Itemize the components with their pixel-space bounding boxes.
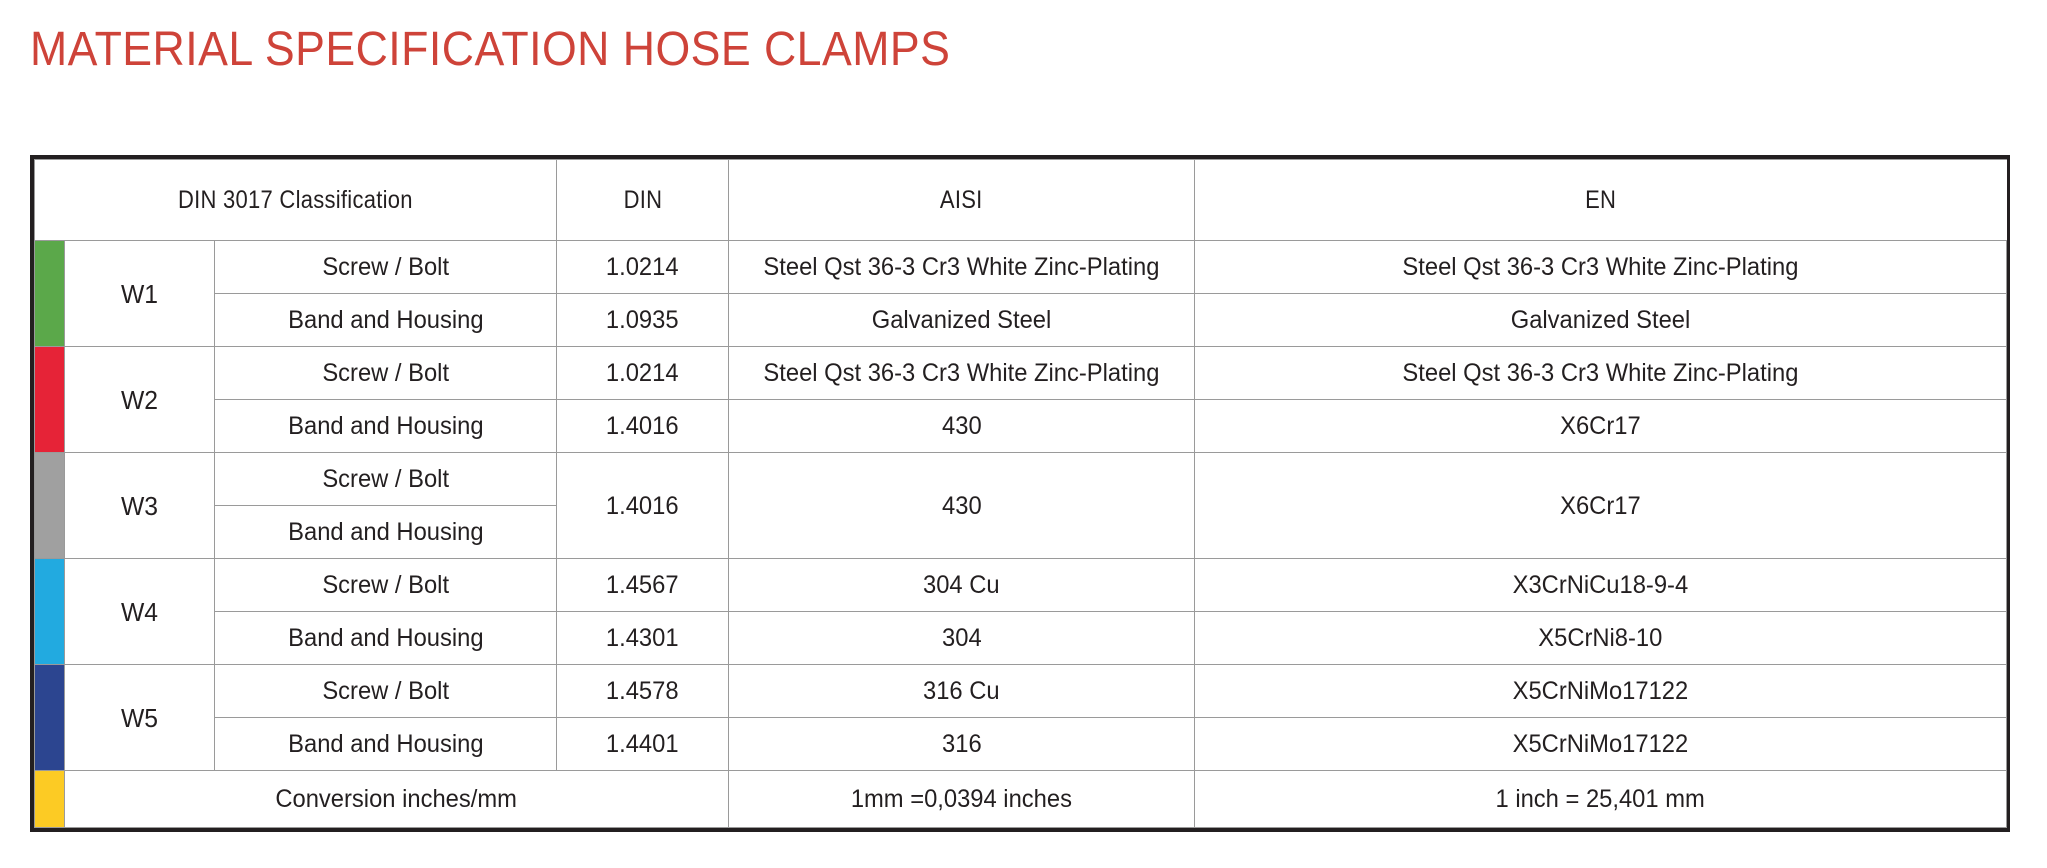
en-value: Galvanized Steel: [1195, 294, 2007, 347]
conversion-label: Conversion inches/mm: [65, 771, 729, 828]
column-header-classification-label: DIN 3017 Classification: [178, 186, 413, 215]
aisi-label: 304: [942, 623, 982, 653]
part-label: Band and Housing: [288, 517, 483, 547]
en-label: X5CrNiMo17122: [1513, 729, 1689, 759]
group-code-label: W2: [121, 385, 158, 415]
part-label: Band and Housing: [288, 305, 483, 335]
en-value: X5CrNiMo17122: [1195, 718, 2007, 771]
part-label: Band and Housing: [288, 623, 483, 653]
en-value: X5CrNiMo17122: [1195, 665, 2007, 718]
color-chip: [35, 559, 64, 664]
aisi-label: 316: [942, 729, 982, 759]
en-value: X3CrNiCu18-9-4: [1195, 559, 2007, 612]
conversion-inch-to-mm-text: 1 inch = 25,401 mm: [1496, 784, 1705, 814]
column-header-en: EN: [1195, 160, 2007, 241]
part-name: Screw / Bolt: [215, 241, 557, 294]
group-code-label: W1: [121, 279, 158, 309]
din-label: 1.4567: [606, 570, 679, 600]
color-chip: [35, 241, 64, 346]
group-code-w5: W5: [65, 665, 215, 771]
part-name: Band and Housing: [215, 612, 557, 665]
conversion-inch-to-mm: 1 inch = 25,401 mm: [1195, 771, 2007, 828]
aisi-label: Steel Qst 36-3 Cr3 White Zinc-Plating: [763, 358, 1159, 388]
en-label: X6Cr17: [1560, 411, 1641, 441]
din-value: 1.4578: [557, 665, 729, 718]
en-label: X6Cr17: [1560, 491, 1641, 521]
din-label: 1.0935: [606, 305, 679, 335]
en-label: X3CrNiCu18-9-4: [1513, 570, 1689, 600]
color-chip: [35, 771, 64, 827]
din-label: 1.4578: [606, 676, 679, 706]
aisi-value: Steel Qst 36-3 Cr3 White Zinc-Plating: [729, 241, 1195, 294]
conversion-label-text: Conversion inches/mm: [276, 784, 518, 814]
din-label: 1.0214: [606, 252, 679, 282]
part-name: Band and Housing: [215, 294, 557, 347]
group-color-swatch-w2: [35, 347, 65, 453]
part-name: Screw / Bolt: [215, 665, 557, 718]
table-row: Band and Housing 1.4301 304 X5CrNi8-10: [35, 612, 2007, 665]
part-label: Screw / Bolt: [322, 464, 449, 494]
din-value: 1.4016: [557, 453, 729, 559]
column-header-din-label: DIN: [623, 186, 662, 215]
group-color-swatch-w5: [35, 665, 65, 771]
din-value: 1.4301: [557, 612, 729, 665]
din-value: 1.0214: [557, 241, 729, 294]
aisi-label: 304 Cu: [923, 570, 1000, 600]
color-chip: [35, 665, 64, 770]
part-label: Screw / Bolt: [322, 358, 449, 388]
document-page: MATERIAL SPECIFICATION HOSE CLAMPS DIN 3…: [0, 0, 2047, 868]
aisi-value: 304 Cu: [729, 559, 1195, 612]
color-chip: [35, 453, 64, 558]
aisi-value: Steel Qst 36-3 Cr3 White Zinc-Plating: [729, 347, 1195, 400]
en-label: X5CrNiMo17122: [1513, 676, 1689, 706]
table-row: W1 Screw / Bolt 1.0214 Steel Qst 36-3 Cr…: [35, 241, 2007, 294]
din-value: 1.0935: [557, 294, 729, 347]
en-value: X6Cr17: [1195, 400, 2007, 453]
table-row: W4 Screw / Bolt 1.4567 304 Cu X3CrNiCu18…: [35, 559, 2007, 612]
part-label: Band and Housing: [288, 729, 483, 759]
color-chip: [35, 347, 64, 452]
din-label: 1.4301: [606, 623, 679, 653]
page-title: MATERIAL SPECIFICATION HOSE CLAMPS: [30, 20, 950, 80]
table-header: DIN 3017 Classification DIN AISI EN: [35, 160, 2007, 241]
table-row: Band and Housing 1.4401 316 X5CrNiMo1712…: [35, 718, 2007, 771]
group-color-swatch-w4: [35, 559, 65, 665]
table-row: Band and Housing 1.0935 Galvanized Steel…: [35, 294, 2007, 347]
part-label: Band and Housing: [288, 411, 483, 441]
aisi-value: 430: [729, 453, 1195, 559]
conversion-row: Conversion inches/mm 1mm =0,0394 inches …: [35, 771, 2007, 828]
conversion-color-swatch: [35, 771, 65, 828]
en-label: Steel Qst 36-3 Cr3 White Zinc-Plating: [1402, 252, 1798, 282]
table-row: W2 Screw / Bolt 1.0214 Steel Qst 36-3 Cr…: [35, 347, 2007, 400]
group-color-swatch-w1: [35, 241, 65, 347]
din-value: 1.4016: [557, 400, 729, 453]
material-spec-table: DIN 3017 Classification DIN AISI EN: [34, 159, 2007, 828]
en-value: X5CrNi8-10: [1195, 612, 2007, 665]
conversion-mm-to-inches: 1mm =0,0394 inches: [729, 771, 1195, 828]
material-spec-table-container: DIN 3017 Classification DIN AISI EN: [30, 155, 2010, 832]
part-label: Screw / Bolt: [322, 676, 449, 706]
part-name: Screw / Bolt: [215, 559, 557, 612]
en-value: Steel Qst 36-3 Cr3 White Zinc-Plating: [1195, 241, 2007, 294]
table-row: W3 Screw / Bolt 1.4016 430 X6Cr17: [35, 453, 2007, 506]
part-label: Screw / Bolt: [322, 252, 449, 282]
aisi-value: 316: [729, 718, 1195, 771]
group-code-w4: W4: [65, 559, 215, 665]
group-code-label: W5: [121, 703, 158, 733]
header-row: DIN 3017 Classification DIN AISI EN: [35, 160, 2007, 241]
table-row: Band and Housing 1.4016 430 X6Cr17: [35, 400, 2007, 453]
din-value: 1.0214: [557, 347, 729, 400]
part-name: Band and Housing: [215, 400, 557, 453]
column-header-aisi: AISI: [729, 160, 1195, 241]
part-label: Screw / Bolt: [322, 570, 449, 600]
column-header-din: DIN: [557, 160, 729, 241]
din-label: 1.0214: [606, 358, 679, 388]
group-code-w1: W1: [65, 241, 215, 347]
group-code-label: W3: [121, 491, 158, 521]
en-label: Galvanized Steel: [1511, 305, 1691, 335]
aisi-label: 430: [942, 491, 982, 521]
group-code-w2: W2: [65, 347, 215, 453]
aisi-label: Steel Qst 36-3 Cr3 White Zinc-Plating: [763, 252, 1159, 282]
part-name: Screw / Bolt: [215, 453, 557, 506]
table-row: W5 Screw / Bolt 1.4578 316 Cu X5CrNiMo17…: [35, 665, 2007, 718]
din-label: 1.4016: [606, 491, 679, 521]
aisi-value: 304: [729, 612, 1195, 665]
column-header-aisi-label: AISI: [940, 186, 983, 215]
column-header-en-label: EN: [1585, 186, 1616, 215]
group-code-label: W4: [121, 597, 158, 627]
en-label: Steel Qst 36-3 Cr3 White Zinc-Plating: [1402, 358, 1798, 388]
din-label: 1.4016: [606, 411, 679, 441]
din-value: 1.4401: [557, 718, 729, 771]
aisi-value: 430: [729, 400, 1195, 453]
group-code-w3: W3: [65, 453, 215, 559]
en-value: X6Cr17: [1195, 453, 2007, 559]
en-label: X5CrNi8-10: [1538, 623, 1662, 653]
en-value: Steel Qst 36-3 Cr3 White Zinc-Plating: [1195, 347, 2007, 400]
din-label: 1.4401: [606, 729, 679, 759]
aisi-value: 316 Cu: [729, 665, 1195, 718]
aisi-label: 430: [942, 411, 982, 441]
aisi-value: Galvanized Steel: [729, 294, 1195, 347]
part-name: Screw / Bolt: [215, 347, 557, 400]
table-body: W1 Screw / Bolt 1.0214 Steel Qst 36-3 Cr…: [35, 241, 2007, 828]
column-header-classification: DIN 3017 Classification: [35, 160, 557, 241]
part-name: Band and Housing: [215, 506, 557, 559]
group-color-swatch-w3: [35, 453, 65, 559]
part-name: Band and Housing: [215, 718, 557, 771]
din-value: 1.4567: [557, 559, 729, 612]
aisi-label: 316 Cu: [923, 676, 1000, 706]
aisi-label: Galvanized Steel: [872, 305, 1052, 335]
conversion-mm-to-inches-text: 1mm =0,0394 inches: [851, 784, 1072, 814]
